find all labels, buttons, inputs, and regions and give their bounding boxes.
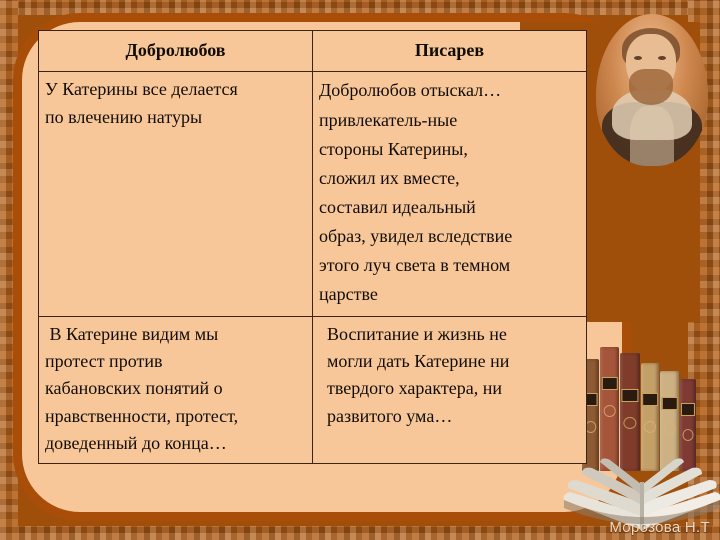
cell-line: по влечению натуры — [45, 104, 306, 131]
cell-line: этого луч света в темном — [319, 251, 580, 280]
cell-line: развитого ума… — [319, 403, 580, 430]
author-watermark: Морозова Н.Т — [609, 519, 710, 536]
portrait-eye-left — [634, 56, 642, 60]
cell-line: Добролюбов отыскал… — [319, 76, 580, 105]
comparison-table-wrapper: Добролюбов Писарев У Катерины все делает… — [38, 30, 586, 464]
cell-line: привлекатель-ные — [319, 106, 580, 135]
cell-pisarev-2: Воспитание и жизнь не могли дать Катерин… — [313, 316, 587, 464]
cell-line: доведенный до конца… — [45, 430, 306, 457]
cell-line: нравственности, протест, — [45, 403, 306, 430]
cell-line: царстве — [319, 280, 580, 309]
column-header-dobrolyubov: Добролюбов — [39, 31, 313, 72]
table-row: В Катерине видим мы протест против кабан… — [39, 316, 587, 464]
cell-line: стороны Катерины, — [319, 135, 580, 164]
column-header-pisarev: Писарев — [313, 31, 587, 72]
wood-border-left — [0, 0, 18, 540]
cell-dobrolyubov-1: У Катерины все делается по влечению нату… — [39, 72, 313, 316]
cell-line: протест против — [45, 348, 306, 375]
cell-line: образ, увидел вследствие — [319, 222, 580, 251]
table-row: У Катерины все делается по влечению нату… — [39, 72, 587, 316]
cell-line: У Катерины все делается — [45, 76, 306, 103]
cell-line: сложил их вместе, — [319, 164, 580, 193]
cell-line: составил идеальный — [319, 193, 580, 222]
slide: Добролюбов Писарев У Катерины все делает… — [0, 0, 720, 540]
cell-line: В Катерине видим мы — [45, 321, 306, 348]
wood-border-top — [0, 0, 720, 15]
cell-line: могли дать Катерине ни — [319, 348, 580, 375]
portrait-eye-right — [658, 56, 666, 60]
cell-line: твердого характера, ни — [319, 375, 580, 402]
comparison-table: Добролюбов Писарев У Катерины все делает… — [38, 30, 587, 464]
cell-line: Воспитание и жизнь не — [319, 321, 580, 348]
table-header-row: Добролюбов Писарев — [39, 31, 587, 72]
cell-line: кабановских понятий о — [45, 375, 306, 402]
cell-dobrolyubov-2: В Катерине видим мы протест против кабан… — [39, 316, 313, 464]
portrait-beard — [629, 69, 673, 105]
portrait-image — [596, 14, 708, 166]
cell-pisarev-1: Добролюбов отыскал… привлекатель-ные сто… — [313, 72, 587, 316]
